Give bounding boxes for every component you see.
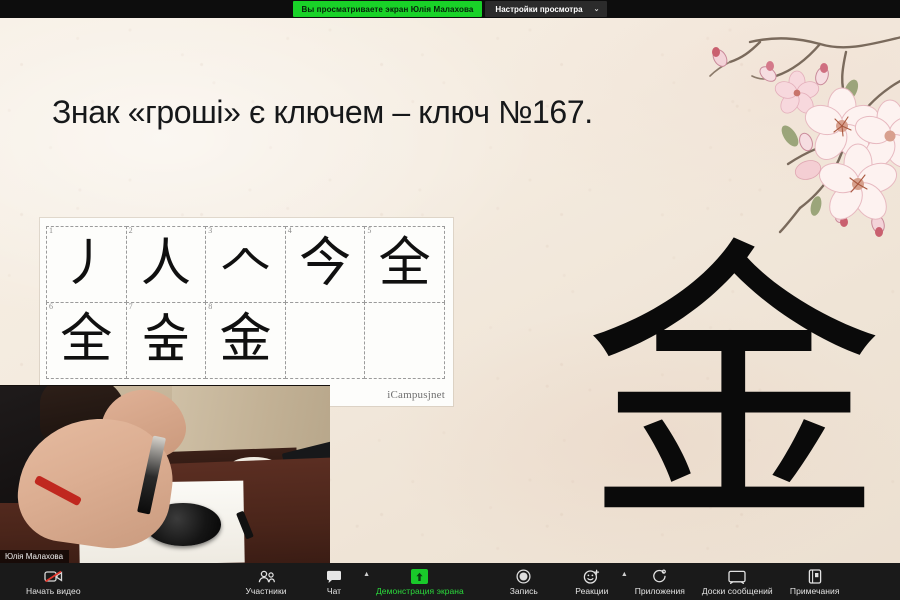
slide-title: Знак «гроші» є ключем – ключ №167. — [52, 94, 593, 131]
stroke-cell: 8 金 — [205, 302, 286, 379]
video-off-icon — [44, 568, 63, 585]
screen-share-banner: Вы просматриваете экран Юлія Малахова — [293, 1, 483, 17]
watermark: iCampusjnet — [387, 389, 445, 401]
chat-button[interactable]: ▲ Чат — [300, 567, 368, 596]
notes-icon — [808, 568, 822, 585]
stroke-glyph: 全 — [379, 236, 431, 289]
stroke-order-grid: 1 丿 2 人 3 𠆢 4 今 5 全 — [47, 227, 445, 379]
stroke-cell-empty — [285, 302, 366, 379]
stroke-cell-empty — [364, 302, 445, 379]
reactions-label: Реакции — [575, 586, 608, 596]
stroke-cell: 5 全 — [364, 226, 445, 303]
stroke-number: 8 — [208, 303, 212, 311]
stroke-number: 4 — [288, 227, 292, 235]
stroke-glyph: 숲 — [142, 312, 190, 365]
stroke-order-card: 1 丿 2 人 3 𠆢 4 今 5 全 — [40, 218, 453, 406]
stroke-number: 7 — [129, 303, 133, 311]
stroke-glyph: 人 — [141, 238, 191, 289]
stroke-number: 1 — [49, 227, 53, 235]
view-options-button[interactable]: Настройки просмотра ⌄ — [485, 1, 607, 17]
share-banner-text: Вы просматриваете экран Юлія Малахова — [302, 5, 474, 14]
start-video-button[interactable]: Начать видео — [18, 567, 89, 596]
whiteboard-label: Доски сообщений — [702, 586, 773, 596]
share-screen-icon — [411, 568, 428, 585]
stroke-glyph: 𠆢 — [220, 238, 270, 289]
chat-icon — [326, 568, 342, 585]
stroke-glyph: 金 — [219, 312, 271, 365]
share-screen-button[interactable]: Демонстрация экрана — [368, 567, 472, 596]
stroke-glyph: 丿 — [61, 238, 111, 289]
view-options-label: Настройки просмотра — [495, 5, 582, 14]
chevron-down-icon: ⌄ — [594, 6, 600, 13]
start-video-label: Начать видео — [26, 586, 81, 596]
whiteboard-icon — [728, 568, 746, 585]
participants-label: Участники — [245, 586, 286, 596]
stroke-number: 6 — [49, 303, 53, 311]
zoom-meeting-window: Вы просматриваете экран Юлія Малахова На… — [0, 0, 900, 600]
stroke-number: 2 — [129, 227, 133, 235]
stroke-number: 5 — [367, 227, 371, 235]
participant-video-thumbnail[interactable]: Юлія Малахова — [0, 385, 330, 564]
whiteboard-button[interactable]: Доски сообщений — [694, 567, 781, 596]
stroke-cell: 6 全 — [46, 302, 127, 379]
share-screen-label: Демонстрация экрана — [376, 586, 464, 596]
stroke-cell: 3 𠆢 — [205, 226, 286, 303]
stroke-cell: 1 丿 — [46, 226, 127, 303]
record-label: Запись — [510, 586, 538, 596]
apps-icon — [652, 568, 668, 585]
apps-label: Приложения — [635, 586, 685, 596]
stroke-number: 3 — [208, 227, 212, 235]
record-icon — [516, 568, 531, 585]
stroke-glyph: 全 — [60, 312, 112, 365]
reactions-button[interactable]: ▲ Реакции — [558, 567, 626, 596]
notes-label: Примечания — [790, 586, 840, 596]
participant-name-label: Юлія Малахова — [0, 550, 69, 564]
reactions-icon — [583, 568, 600, 585]
chat-label: Чат — [327, 586, 341, 596]
stroke-cell: 4 今 — [285, 226, 366, 303]
stroke-cell: 7 숲 — [126, 302, 207, 379]
notes-button[interactable]: Примечания — [781, 567, 849, 596]
participants-icon — [257, 568, 276, 585]
record-button[interactable]: Запись — [490, 567, 558, 596]
participants-button[interactable]: Участники — [232, 567, 300, 596]
apps-button[interactable]: Приложения — [626, 567, 694, 596]
large-kanji-character: 金 — [584, 246, 884, 531]
screen-share-topbar: Вы просматриваете экран Юлія Малахова На… — [0, 0, 900, 18]
meeting-toolbar: Начать видео Участники — [0, 563, 900, 600]
stroke-glyph: 今 — [299, 236, 351, 289]
stroke-cell: 2 人 — [126, 226, 207, 303]
